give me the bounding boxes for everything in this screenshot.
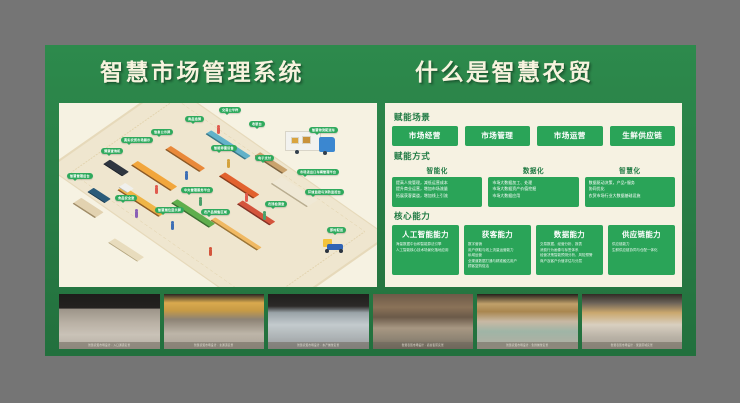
scene-chip-market-operation[interactable]: 市场运营 bbox=[537, 126, 603, 146]
callout-label: 真实农贸市场展示 bbox=[121, 137, 153, 143]
callout-label: 食品安全室 bbox=[115, 195, 137, 201]
shopper bbox=[171, 223, 174, 230]
callout-label: 智能称重设备 bbox=[211, 145, 237, 151]
mode-title-wisdom: 智慧化 bbox=[585, 165, 675, 175]
capability-card-ai[interactable]: 人工智能能力 海量数据中台和智能算法引擎 人工智能核心技术场景化落地应用 bbox=[392, 225, 459, 275]
photo-thumbnail-2[interactable]: 智慧农贸市场设计 · 主通道实景 bbox=[164, 294, 265, 349]
photo-thumbnail-6[interactable]: 智慧农贸市场设计 · 果蔬区域实景 bbox=[582, 294, 683, 349]
capability-card-supply-chain[interactable]: 供应链能力 供应链能力 生鲜供应链协同与仓配一体化 bbox=[608, 225, 675, 275]
rest-area bbox=[108, 238, 144, 261]
mode-title-datafication: 数据化 bbox=[488, 165, 578, 175]
photo-caption: 智慧农贸市场设计 · 主通道实景 bbox=[194, 342, 233, 349]
mode-item: 农贸市场行业大数据基础设施 bbox=[589, 193, 671, 199]
photo-caption: 智慧农贸市场设计 · 生鲜摊位实景 bbox=[506, 342, 548, 349]
capability-item: 顾客复购促活 bbox=[468, 264, 527, 270]
shopper bbox=[209, 249, 212, 256]
callout-label: 收银台 bbox=[249, 121, 265, 127]
title-left: 智慧市场管理系统 bbox=[100, 53, 304, 87]
capability-item: 人工智能核心技术场景化落地应用 bbox=[396, 248, 455, 254]
photo-caption-bar: 智慧农贸市场设计 · 商业街区实景 bbox=[373, 342, 474, 349]
capability-list-data: 交易数据、经营分析、报表 消费行为画像与标签体系 经营决策智能预测分析、风险预警… bbox=[540, 242, 599, 264]
title-right: 什么是智慧农贸 bbox=[415, 53, 594, 87]
photo-caption: 智慧农贸市场设计 · 入口通道实景 bbox=[88, 342, 130, 349]
photo-thumbnail-3[interactable]: 智慧农贸市场设计 · 水产摊位实景 bbox=[268, 294, 369, 349]
info-panel: 赋能场景 市场经营 市场管理 市场运营 生鲜供应链 赋能方式 智能化 提高人效管… bbox=[385, 103, 682, 287]
capability-title-data: 数据能力 bbox=[540, 229, 599, 240]
section-heading-scenes: 赋能场景 bbox=[394, 111, 675, 123]
green-board: 智慧市场管理系统 什么是智慧农贸 bbox=[45, 45, 696, 356]
shopper bbox=[185, 173, 188, 180]
section-heading-capabilities: 核心能力 bbox=[394, 210, 675, 222]
capability-item: 经营决策智能预测分析、风险预警 bbox=[540, 253, 599, 259]
shopper bbox=[155, 187, 158, 194]
photo-caption-bar: 智慧农贸市场设计 · 果蔬区域实景 bbox=[582, 342, 683, 349]
callout-label: 农产品销售区域 bbox=[201, 209, 230, 215]
callout-label: 智慧管理后台 bbox=[67, 173, 93, 179]
callout-label: 农残检测室 bbox=[265, 201, 287, 207]
scene-chip-group: 市场经营 市场管理 市场运营 生鲜供应链 bbox=[392, 126, 675, 146]
mode-item: 拓展获客渠道，增加线上引流 bbox=[396, 193, 478, 199]
callout-label: 市场进出口车辆管理平台 bbox=[297, 169, 339, 175]
photo-thumbnail-5[interactable]: 智慧农贸市场设计 · 生鲜摊位实景 bbox=[477, 294, 578, 349]
isometric-market-illustration: 智慧管理后台 溯源查询机 真实农贸市场展示 信息公示屏 商品追溯 交易公平秤 收… bbox=[59, 103, 377, 287]
scene-chip-market-business[interactable]: 市场经营 bbox=[392, 126, 458, 146]
callout-label: 溯源查询机 bbox=[101, 148, 123, 154]
mode-box-datafication: 市场大数据加工、处理 市场大数据资产价值挖掘 市场大数据应用 bbox=[488, 177, 578, 207]
illustration-panel: 智慧管理后台 溯源查询机 真实农贸市场展示 信息公示屏 商品追溯 交易公平秤 收… bbox=[59, 103, 377, 287]
photo-thumbnail-4[interactable]: 智慧农贸市场设计 · 商业街区实景 bbox=[373, 294, 474, 349]
shopper bbox=[135, 211, 138, 218]
mode-column-intelligent: 智能化 提高人效管理，减低运营成本 提升商业运营，增加市场流量 拓展获客渠道，增… bbox=[392, 165, 482, 207]
capability-item: 商户及客户价值评估与分层 bbox=[540, 259, 599, 265]
capability-item: 生鲜供应链协同与仓配一体化 bbox=[612, 248, 671, 254]
callout-label: 中央管理服务平台 bbox=[181, 187, 213, 193]
shopper bbox=[199, 199, 202, 206]
shopper bbox=[217, 127, 220, 134]
poster-canvas: 智慧市场管理系统 什么是智慧农贸 bbox=[0, 0, 740, 403]
callout-label: 商品追溯 bbox=[185, 116, 204, 122]
callout-label: 环境监控与消防监控台 bbox=[305, 189, 344, 195]
mode-box-intelligent: 提高人效管理，减低运营成本 提升商业运营，增加市场流量 拓展获客渠道，增加线上引… bbox=[392, 177, 482, 207]
photo-caption-bar: 智慧农贸市场设计 · 主通道实景 bbox=[164, 342, 265, 349]
capability-title-customer-acquisition: 获客能力 bbox=[468, 229, 527, 240]
mode-item: 市场大数据应用 bbox=[492, 193, 574, 199]
mode-box-wisdom: 数据驱动决策，产品+服务 协同优化 农贸市场行业大数据基础设施 bbox=[585, 177, 675, 207]
mode-column-group: 智能化 提高人效管理，减低运营成本 提升商业运营，增加市场流量 拓展获客渠道，增… bbox=[392, 165, 675, 207]
callout-label: 信息公示屏 bbox=[151, 129, 173, 135]
delivery-truck bbox=[283, 129, 341, 159]
shopper bbox=[227, 161, 230, 168]
scene-chip-market-management[interactable]: 市场管理 bbox=[465, 126, 531, 146]
shopper bbox=[263, 213, 266, 220]
callout-label: 智慧物流配送车 bbox=[309, 127, 338, 133]
title-bar: 智慧市场管理系统 什么是智慧农贸 bbox=[45, 53, 696, 101]
mode-title-intelligent: 智能化 bbox=[392, 165, 482, 175]
mode-column-wisdom: 智慧化 数据驱动决策，产品+服务 协同优化 农贸市场行业大数据基础设施 bbox=[585, 165, 675, 207]
capability-title-ai: 人工智能能力 bbox=[396, 229, 455, 240]
capability-title-supply-chain: 供应链能力 bbox=[612, 229, 671, 240]
photo-caption-bar: 智慧农贸市场设计 · 入口通道实景 bbox=[59, 342, 160, 349]
capability-card-customer-acquisition[interactable]: 获客能力 数字营销 用户获取与线上流量运营能力 私域运营 全渠道数据打通与精准触… bbox=[464, 225, 531, 275]
capability-card-data[interactable]: 数据能力 交易数据、经营分析、报表 消费行为画像与标签体系 经营决策智能预测分析… bbox=[536, 225, 603, 275]
callout-label: 交易公平秤 bbox=[219, 107, 241, 113]
photo-thumbnail-1[interactable]: 智慧农贸市场设计 · 入口通道实景 bbox=[59, 294, 160, 349]
callout-label: 即时配送 bbox=[327, 227, 346, 233]
photo-strip: 智慧农贸市场设计 · 入口通道实景 智慧农贸市场设计 · 主通道实景 智慧农贸市… bbox=[59, 294, 682, 349]
shopper bbox=[245, 195, 248, 202]
photo-caption: 智慧农贸市场设计 · 商业街区实景 bbox=[402, 342, 444, 349]
delivery-scooter bbox=[321, 239, 347, 255]
section-heading-modes: 赋能方式 bbox=[394, 150, 675, 162]
capability-list-customer-acquisition: 数字营销 用户获取与线上流量运营能力 私域运营 全渠道数据打通与精准触达用户 顾… bbox=[468, 242, 527, 270]
photo-caption-bar: 智慧农贸市场设计 · 水产摊位实景 bbox=[268, 342, 369, 349]
callout-label: 智慧摊位显示屏 bbox=[155, 207, 184, 213]
photo-caption-bar: 智慧农贸市场设计 · 生鲜摊位实景 bbox=[477, 342, 578, 349]
scene-chip-fresh-supply-chain[interactable]: 生鲜供应链 bbox=[610, 126, 676, 146]
photo-caption: 智慧农贸市场设计 · 水产摊位实景 bbox=[297, 342, 339, 349]
callout-label: 电子支付 bbox=[255, 155, 274, 161]
capability-card-group: 人工智能能力 海量数据中台和智能算法引擎 人工智能核心技术场景化落地应用 获客能… bbox=[392, 225, 675, 275]
capability-list-ai: 海量数据中台和智能算法引擎 人工智能核心技术场景化落地应用 bbox=[396, 242, 455, 253]
capability-list-supply-chain: 供应链能力 生鲜供应链协同与仓配一体化 bbox=[612, 242, 671, 253]
photo-caption: 智慧农贸市场设计 · 果蔬区域实景 bbox=[611, 342, 653, 349]
mode-column-datafication: 数据化 市场大数据加工、处理 市场大数据资产价值挖掘 市场大数据应用 bbox=[488, 165, 578, 207]
